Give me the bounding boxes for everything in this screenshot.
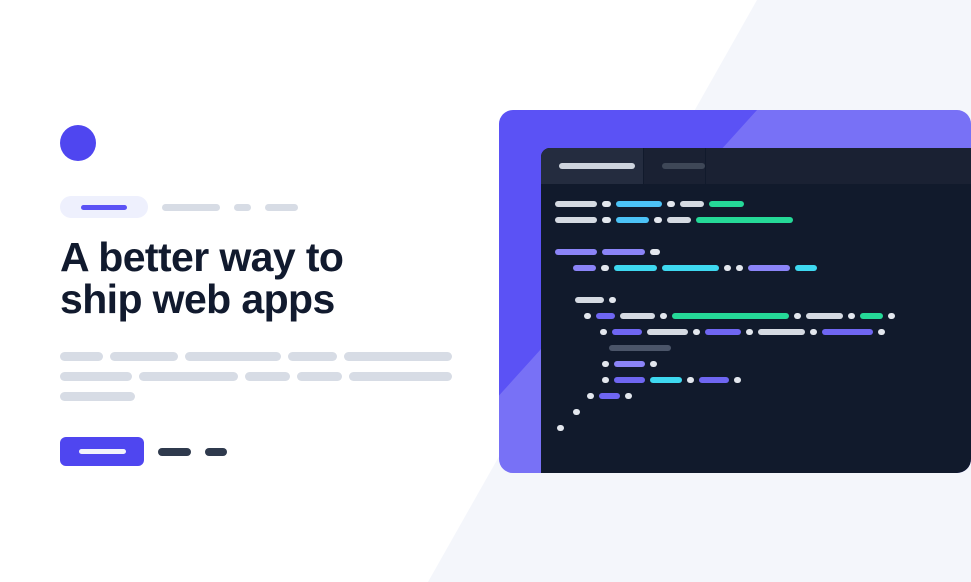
code-token bbox=[699, 377, 729, 383]
code-line bbox=[541, 308, 971, 324]
code-token bbox=[614, 377, 645, 383]
code-line bbox=[541, 324, 971, 340]
code-token bbox=[596, 313, 615, 319]
code-token bbox=[709, 201, 744, 207]
code-token bbox=[602, 217, 611, 223]
code-token bbox=[599, 393, 620, 399]
body-text-segment bbox=[245, 372, 290, 381]
code-token bbox=[693, 329, 700, 335]
page-title-line-1: A better way to bbox=[60, 234, 343, 280]
code-content bbox=[541, 184, 971, 436]
code-token bbox=[680, 201, 704, 207]
body-text-segment bbox=[349, 372, 452, 381]
code-token bbox=[822, 329, 873, 335]
body-text-segment bbox=[60, 372, 132, 381]
code-token bbox=[612, 329, 642, 335]
code-line bbox=[541, 356, 971, 372]
code-token bbox=[614, 265, 657, 271]
code-line bbox=[541, 212, 971, 228]
code-token bbox=[758, 329, 805, 335]
editor-tab-active-label bbox=[559, 163, 635, 169]
code-token bbox=[810, 329, 817, 335]
code-token bbox=[584, 313, 591, 319]
code-token bbox=[555, 201, 597, 207]
body-text-segment bbox=[110, 352, 178, 361]
code-line bbox=[541, 260, 971, 276]
code-token bbox=[587, 393, 594, 399]
code-token bbox=[573, 409, 580, 415]
code-token bbox=[736, 265, 743, 271]
code-token bbox=[602, 249, 645, 255]
code-token bbox=[625, 393, 632, 399]
code-token bbox=[795, 265, 817, 271]
editor-tab-active[interactable] bbox=[541, 148, 644, 184]
primary-cta-label-bar bbox=[79, 449, 126, 454]
body-text-segment bbox=[139, 372, 238, 381]
code-token bbox=[667, 201, 675, 207]
code-token bbox=[667, 217, 691, 223]
code-token bbox=[602, 377, 609, 383]
code-token bbox=[609, 345, 671, 351]
code-line bbox=[541, 372, 971, 388]
eyebrow-nav-row bbox=[60, 196, 298, 218]
code-token bbox=[860, 313, 883, 319]
eyebrow-badge[interactable] bbox=[60, 196, 148, 218]
code-token bbox=[734, 377, 741, 383]
nav-placeholder-1[interactable] bbox=[162, 204, 220, 211]
code-token bbox=[848, 313, 855, 319]
body-text-segment bbox=[344, 352, 452, 361]
code-line bbox=[541, 420, 971, 436]
code-line bbox=[541, 388, 971, 404]
code-token bbox=[794, 313, 801, 319]
code-token bbox=[602, 361, 609, 367]
code-token bbox=[660, 313, 667, 319]
cta-row bbox=[60, 437, 227, 466]
hero-screenshot: A better way to ship web apps bbox=[0, 0, 971, 582]
code-token bbox=[654, 217, 662, 223]
showcase-card bbox=[499, 110, 971, 473]
eyebrow-badge-bar bbox=[81, 205, 127, 210]
code-token bbox=[555, 249, 597, 255]
code-token bbox=[748, 265, 790, 271]
code-token bbox=[696, 217, 793, 223]
code-token bbox=[650, 361, 657, 367]
code-token bbox=[616, 217, 649, 223]
code-token bbox=[705, 329, 741, 335]
code-token bbox=[724, 265, 731, 271]
code-token bbox=[687, 377, 694, 383]
code-token bbox=[620, 313, 655, 319]
code-line bbox=[541, 340, 971, 356]
page-title: A better way to ship web apps bbox=[60, 236, 420, 320]
code-line bbox=[541, 404, 971, 420]
code-line bbox=[541, 228, 971, 244]
body-text-line bbox=[60, 372, 452, 381]
primary-cta-button[interactable] bbox=[60, 437, 144, 466]
code-token bbox=[746, 329, 753, 335]
page-title-line-2: ship web apps bbox=[60, 276, 335, 322]
code-token bbox=[878, 329, 885, 335]
code-token bbox=[888, 313, 895, 319]
brand-dot-icon bbox=[60, 125, 96, 161]
editor-tab-bar-filler bbox=[706, 148, 971, 184]
code-token bbox=[575, 297, 604, 303]
code-line bbox=[541, 276, 971, 292]
code-editor-window bbox=[541, 148, 971, 473]
body-text-line bbox=[60, 352, 452, 361]
editor-tab-bar bbox=[541, 148, 971, 184]
body-text-line bbox=[60, 392, 452, 401]
code-token bbox=[557, 425, 564, 431]
code-token bbox=[647, 329, 688, 335]
secondary-link-1[interactable] bbox=[158, 448, 191, 456]
secondary-link-2[interactable] bbox=[205, 448, 227, 456]
code-token bbox=[616, 201, 662, 207]
code-line bbox=[541, 292, 971, 308]
body-text-placeholder bbox=[60, 352, 452, 401]
body-text-segment bbox=[288, 352, 337, 361]
code-line bbox=[541, 196, 971, 212]
body-text-segment bbox=[185, 352, 281, 361]
code-token bbox=[555, 217, 597, 223]
code-token bbox=[650, 377, 682, 383]
code-token bbox=[602, 201, 611, 207]
body-text-segment bbox=[60, 352, 103, 361]
code-token bbox=[600, 329, 607, 335]
body-text-segment bbox=[297, 372, 342, 381]
editor-tab-inactive[interactable] bbox=[644, 148, 706, 184]
nav-placeholder-3[interactable] bbox=[265, 204, 298, 211]
code-token bbox=[662, 265, 719, 271]
code-line bbox=[541, 244, 971, 260]
code-token bbox=[806, 313, 843, 319]
code-token bbox=[609, 297, 616, 303]
code-token bbox=[573, 265, 596, 271]
code-token bbox=[672, 313, 789, 319]
hero-left-column: A better way to ship web apps bbox=[60, 0, 460, 582]
code-token bbox=[601, 265, 609, 271]
code-token bbox=[614, 361, 645, 367]
code-token bbox=[650, 249, 660, 255]
body-text-segment bbox=[60, 392, 135, 401]
nav-placeholder-2[interactable] bbox=[234, 204, 251, 211]
editor-tab-inactive-label bbox=[662, 163, 705, 169]
